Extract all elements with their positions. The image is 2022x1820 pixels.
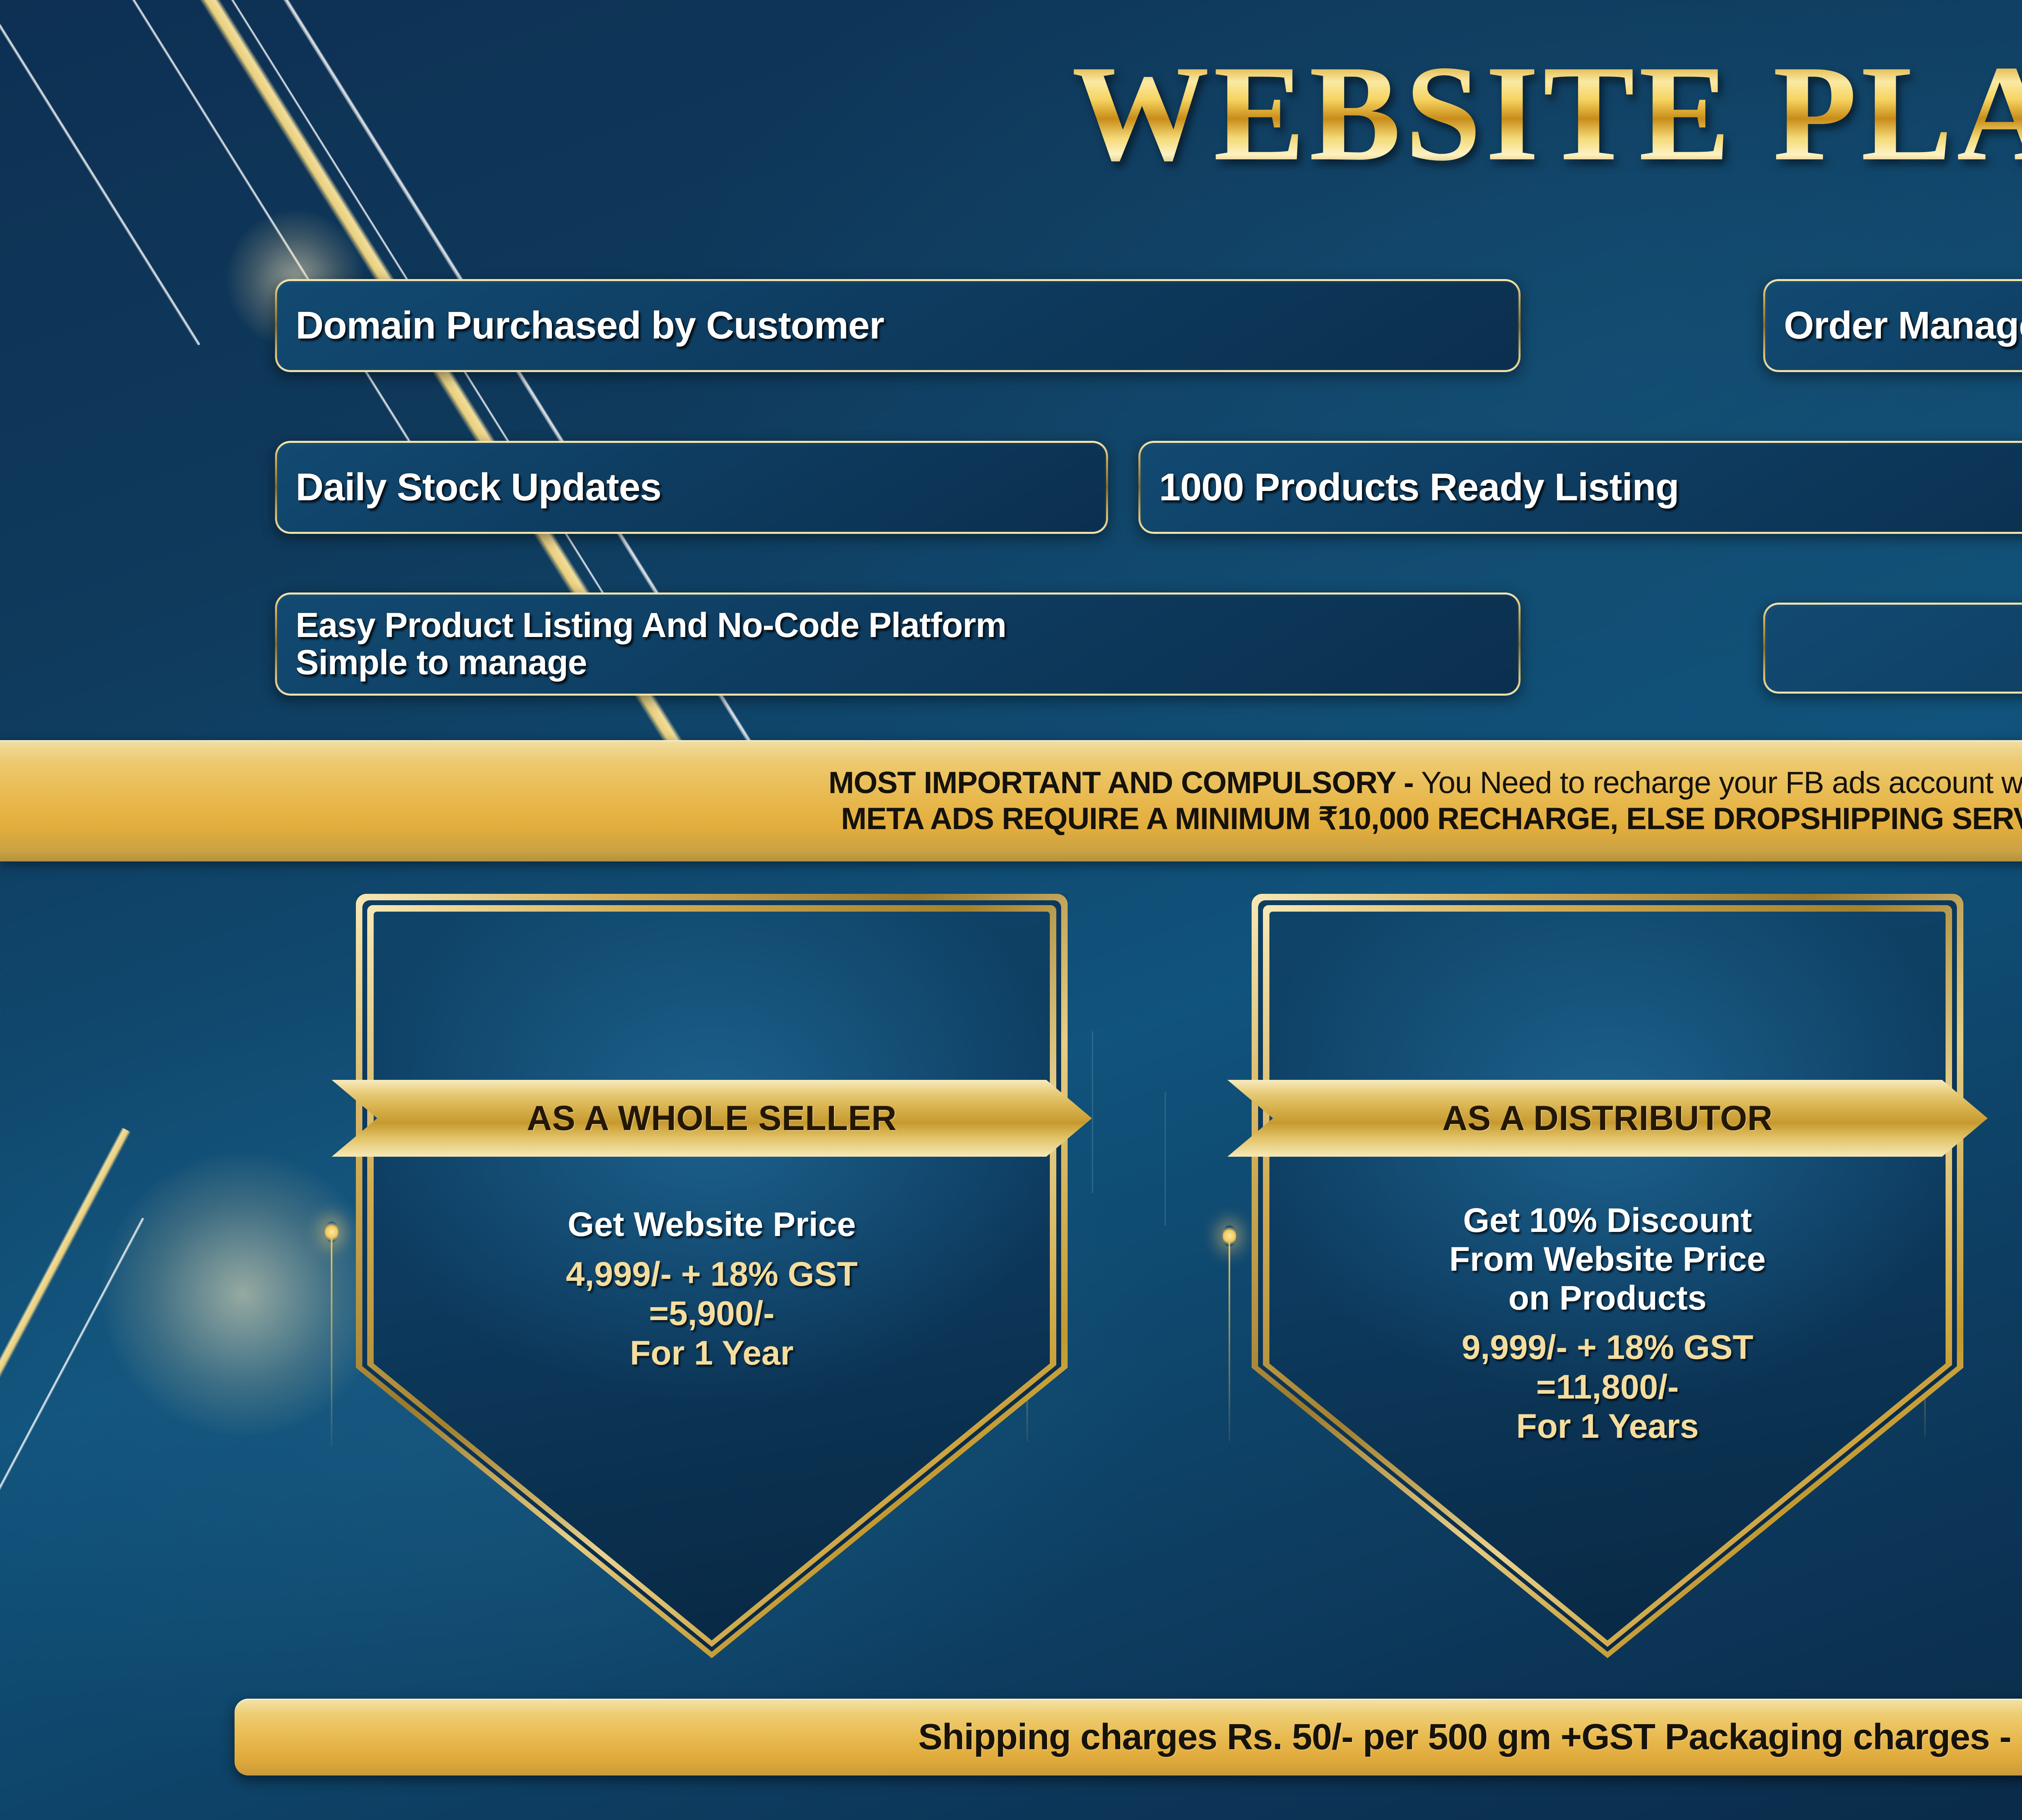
feature-pill-google-ads-meta-pixel[interactable]: Google Ads & Meta Pixel Integration — [1763, 603, 2022, 694]
notice-line-1: MOST IMPORTANT AND COMPULSORY - You Need… — [829, 766, 2022, 800]
chevron-line-icon — [0, 837, 0, 1122]
plan-ribbon-label: AS A DISTRIBUTOR — [1442, 1098, 1772, 1139]
pin-light-icon — [324, 1221, 340, 1448]
diagonal-streak-icon — [0, 1217, 145, 1737]
notice-banner: MOST IMPORTANT AND COMPULSORY - You Need… — [0, 740, 2022, 861]
feature-label: Domain Purchased by Customer — [277, 305, 1519, 346]
feature-label: 1000 Products Ready Listing — [1140, 467, 2022, 508]
pin-light-icon — [1221, 1225, 1237, 1444]
chevron-line-icon — [0, 0, 81, 39]
notice-line-1-rest: You Need to recharge your FB ads account… — [1413, 766, 2022, 800]
plan-card-distributor[interactable]: AS A DISTRIBUTOR Get 10% Discount From W… — [1252, 894, 1963, 1658]
feature-label: Daily Stock Updates — [277, 467, 1106, 508]
diagonal-streak-icon — [0, 1127, 131, 1704]
feature-label: Order Management Panel — [1765, 305, 2022, 346]
plan-card-whole-seller[interactable]: AS A WHOLE SELLER Get Website Price 4,99… — [356, 894, 1068, 1658]
plan-description: Get Website Price — [380, 1205, 1043, 1244]
feature-label: Easy Product Listing And No-Code Platfor… — [277, 607, 1519, 681]
circuit-line-icon — [1165, 1092, 1166, 1225]
shipping-charges-label: Shipping charges Rs. 50/- per 500 gm +GS… — [918, 1716, 2022, 1758]
plan-ribbon-whole-seller: AS A WHOLE SELLER — [332, 1080, 1092, 1157]
notice-line-2: META ADS REQUIRE A MINIMUM ₹10,000 RECHA… — [841, 802, 2022, 836]
glow-orb-icon — [101, 1153, 384, 1436]
feature-pill-domain-purchased[interactable]: Domain Purchased by Customer — [275, 279, 1521, 372]
plan-ribbon-label: AS A WHOLE SELLER — [527, 1098, 897, 1139]
plan-content: Get 10% Discount From Website Price on P… — [1252, 1201, 1963, 1446]
feature-pill-easy-product-listing[interactable]: Easy Product Listing And No-Code Platfor… — [275, 593, 1521, 696]
circuit-line-icon — [1092, 1031, 1093, 1193]
plan-content: Get Website Price 4,999/- + 18% GST =5,9… — [356, 1205, 1068, 1373]
shipping-charges-bar: Shipping charges Rs. 50/- per 500 gm +GS… — [235, 1699, 2022, 1776]
feature-label: Google Ads & Meta Pixel Integration — [1765, 628, 2022, 669]
plan-price: 4,999/- + 18% GST =5,900/- For 1 Year — [380, 1255, 1043, 1373]
feature-pill-1000-products[interactable]: 1000 Products Ready Listing — [1138, 441, 2022, 534]
feature-pill-order-management[interactable]: Order Management Panel — [1763, 279, 2022, 372]
notice-line-1-bold: MOST IMPORTANT AND COMPULSORY - — [829, 766, 1414, 800]
plan-description: Get 10% Discount From Website Price on P… — [1276, 1201, 1939, 1317]
poster-canvas: WEBSITE PLAN Domain Purchased by Custome… — [0, 0, 2022, 1820]
plan-ribbon-distributor: AS A DISTRIBUTOR — [1227, 1080, 1988, 1157]
plan-price: 9,999/- + 18% GST =11,800/- For 1 Years — [1276, 1328, 1939, 1446]
feature-pill-daily-stock-updates[interactable]: Daily Stock Updates — [275, 441, 1108, 534]
page-title: WEBSITE PLAN — [0, 44, 2022, 182]
